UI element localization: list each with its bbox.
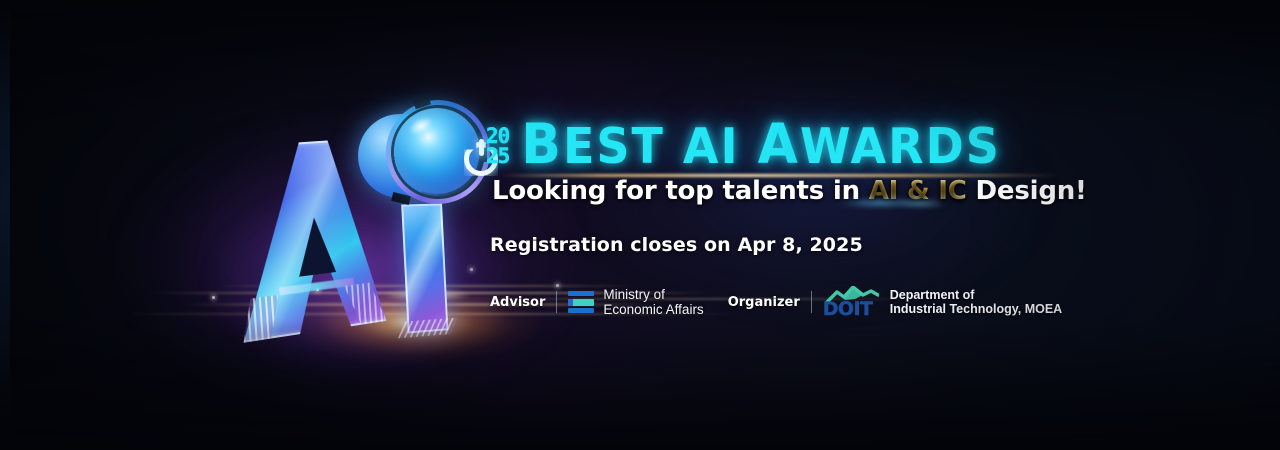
best-ai-awards-banner: Ai power-button sculpture xyxy=(0,0,1280,450)
bottom-fade xyxy=(0,320,1280,450)
top-fade xyxy=(0,0,1280,120)
